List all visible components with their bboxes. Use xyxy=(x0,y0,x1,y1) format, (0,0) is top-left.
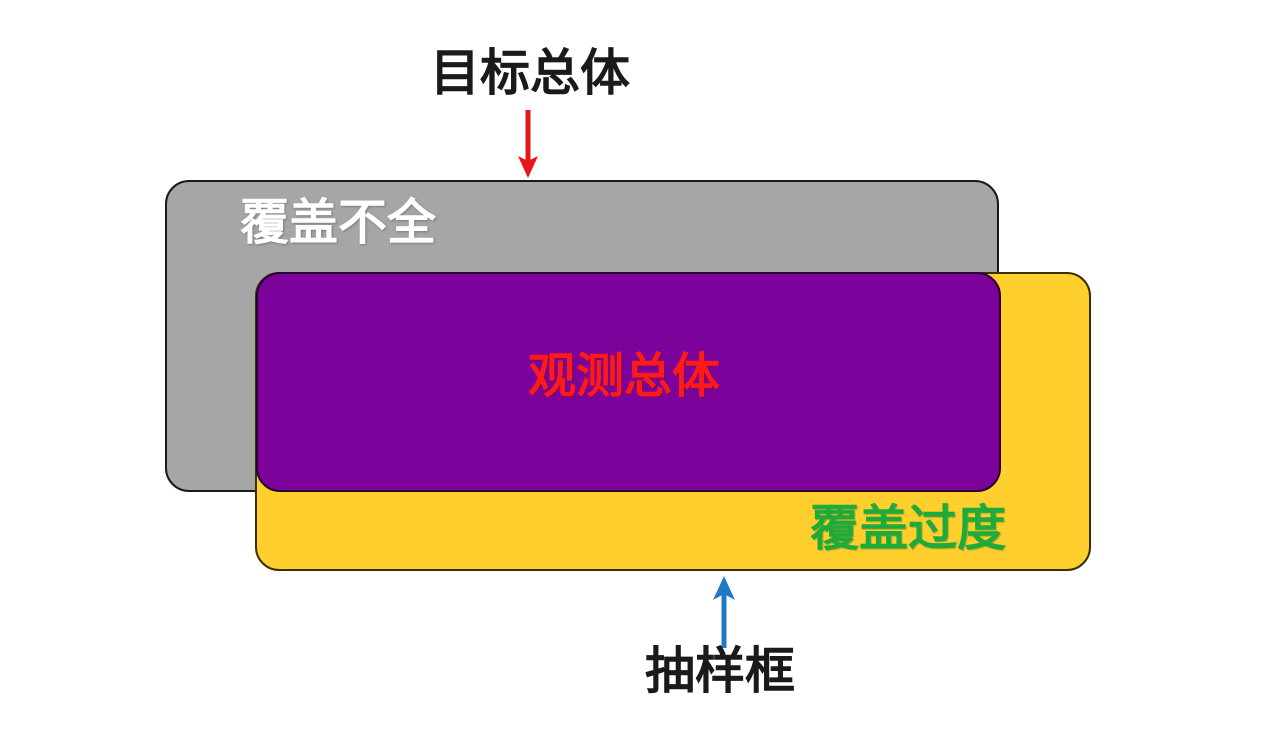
callout-label-target-population: 目标总体 xyxy=(430,48,630,98)
up-arrow-icon-sampling-frame xyxy=(700,572,748,650)
diagram-canvas: 目标总体 覆盖不全 观测总体 覆盖过度 抽样框 xyxy=(0,0,1280,755)
box-label-observed-population: 观测总体 xyxy=(528,352,720,400)
down-arrow-icon-target-population xyxy=(505,108,551,180)
callout-label-sampling-frame: 抽样框 xyxy=(645,646,795,696)
box-label-undercoverage: 覆盖不全 xyxy=(240,198,436,247)
box-label-overcoverage: 覆盖过度 xyxy=(810,504,1006,553)
